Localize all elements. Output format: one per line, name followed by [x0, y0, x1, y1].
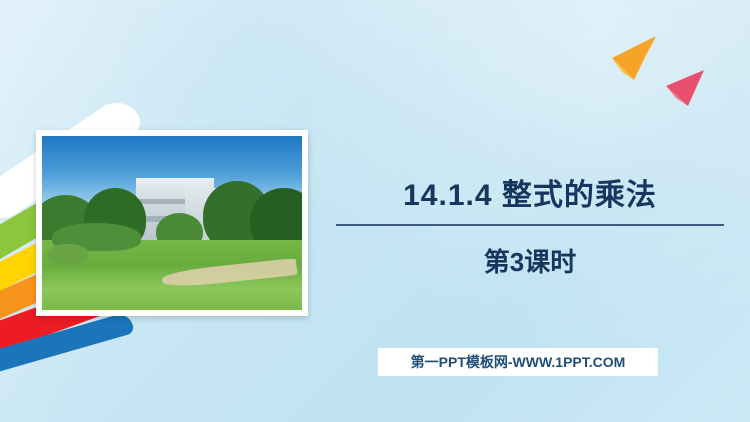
title-divider	[336, 224, 724, 226]
paper-plane-icon	[604, 28, 714, 118]
footer-text: 第一PPT模板网-WWW.1PPT.COM	[411, 352, 626, 372]
page-title: 14.1.4 整式的乘法	[330, 170, 730, 214]
photo-frame	[36, 130, 308, 316]
campus-photo	[42, 136, 302, 310]
title-block: 14.1.4 整式的乘法 第3课时	[330, 170, 730, 279]
paper-planes-decoration	[604, 28, 714, 118]
page-subtitle: 第3课时	[330, 242, 730, 279]
footer-watermark: 第一PPT模板网-WWW.1PPT.COM	[378, 348, 658, 376]
slide-canvas: 14.1.4 整式的乘法 第3课时 第一PPT模板网-WWW.1PPT.COM	[0, 0, 750, 422]
photo-shrub	[47, 244, 89, 265]
